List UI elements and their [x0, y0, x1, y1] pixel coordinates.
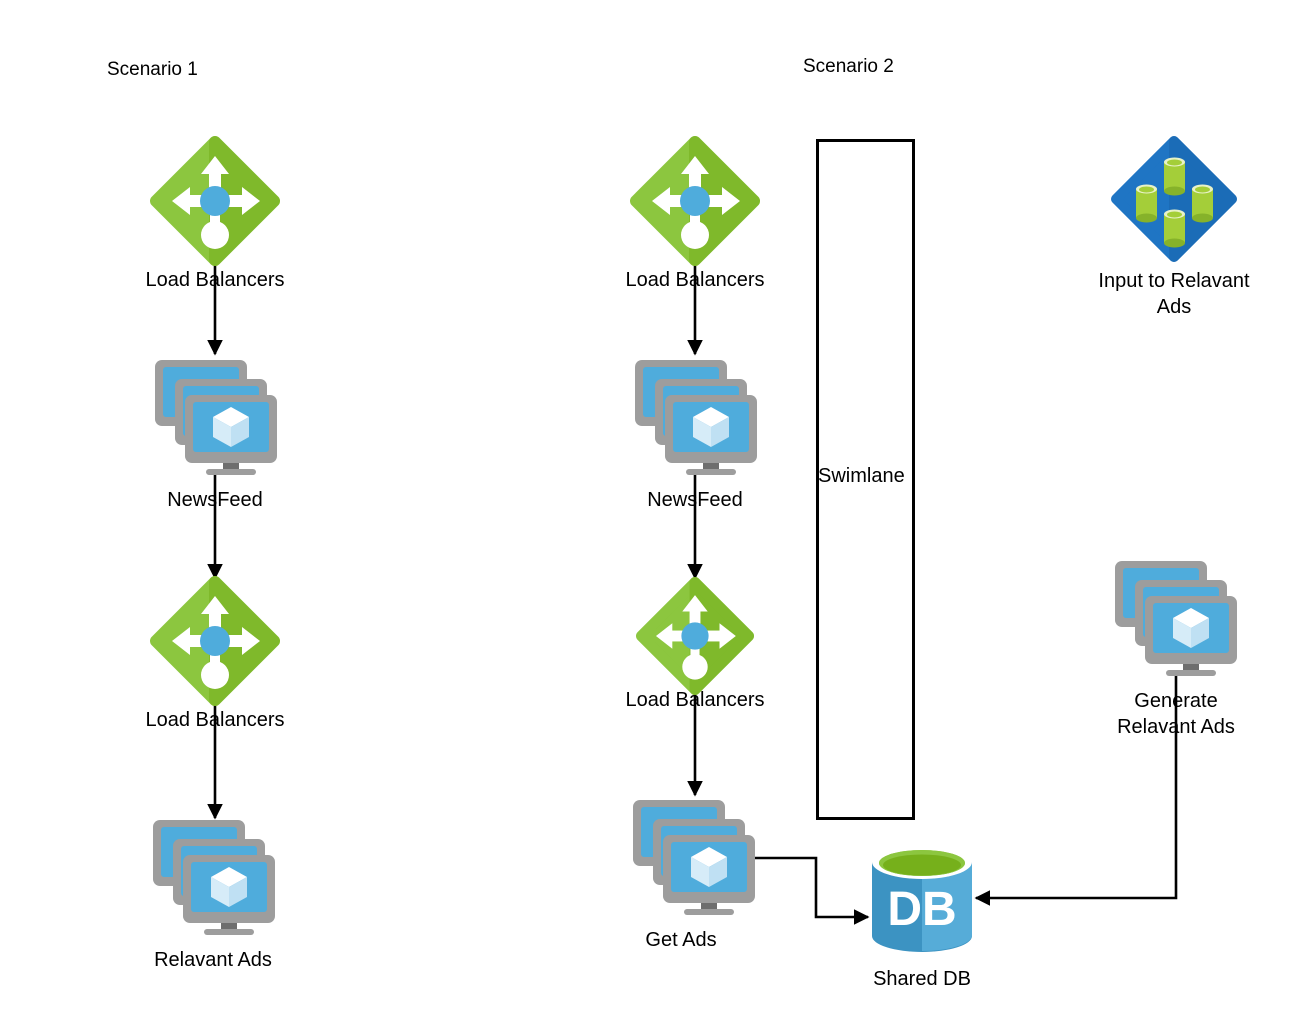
- node-label-s1-load-balancer-2: Load Balancers: [115, 707, 315, 733]
- swimlane-label: Swimlane: [818, 466, 905, 486]
- node-s2-get-ads[interactable]: [628, 795, 758, 915]
- node-s1-newsfeed[interactable]: [150, 355, 280, 475]
- node-s2-newsfeed[interactable]: [630, 355, 760, 475]
- node-label-s1-load-balancer-1: Load Balancers: [115, 267, 315, 293]
- node-label-s2-load-balancer-2: Load Balancers: [595, 687, 795, 713]
- node-s2-input-to-relavant-ads[interactable]: [1110, 135, 1238, 263]
- db-cluster-icon: [1110, 135, 1238, 263]
- node-label-s2-newsfeed: NewsFeed: [595, 487, 795, 513]
- node-s2-load-balancer-2[interactable]: [635, 577, 755, 695]
- load-balancer-icon: [150, 136, 280, 266]
- edge-getads-to-shared-db: [752, 858, 868, 917]
- server-stack-icon: [150, 355, 280, 475]
- scenario-2-title: Scenario 2: [803, 57, 894, 76]
- node-s2-shared-db[interactable]: DB: [866, 840, 978, 958]
- server-stack-icon: [148, 815, 278, 935]
- node-label-s2-get-ads: Get Ads: [581, 927, 781, 953]
- node-s2-load-balancer-1[interactable]: [630, 136, 760, 266]
- load-balancer-icon: [635, 577, 755, 695]
- database-icon: DB: [866, 840, 978, 958]
- database-glyph: DB: [887, 883, 956, 936]
- node-label-s2-shared-db: Shared DB: [822, 966, 1022, 992]
- server-stack-icon: [630, 355, 760, 475]
- node-s1-load-balancer-2[interactable]: [150, 576, 280, 706]
- load-balancer-icon: [150, 576, 280, 706]
- node-label-s2-generate-relavant-ads: Generate Relavant Ads: [1076, 688, 1276, 740]
- node-s2-generate-relavant-ads[interactable]: [1110, 556, 1240, 676]
- server-stack-icon: [1110, 556, 1240, 676]
- node-label-s1-relavant-ads: Relavant Ads: [113, 947, 313, 973]
- server-stack-icon: [628, 795, 758, 915]
- node-label-s1-newsfeed: NewsFeed: [115, 487, 315, 513]
- node-s1-load-balancer-1[interactable]: [150, 136, 280, 266]
- node-label-s2-load-balancer-1: Load Balancers: [595, 267, 795, 293]
- load-balancer-icon: [630, 136, 760, 266]
- diagram-canvas: Scenario 1 Scenario 2: [0, 0, 1305, 1030]
- scenario-1-title: Scenario 1: [107, 60, 198, 79]
- node-label-s2-input-to-relavant-ads: Input to Relavant Ads: [1074, 268, 1274, 320]
- node-s1-relavant-ads[interactable]: [148, 815, 278, 935]
